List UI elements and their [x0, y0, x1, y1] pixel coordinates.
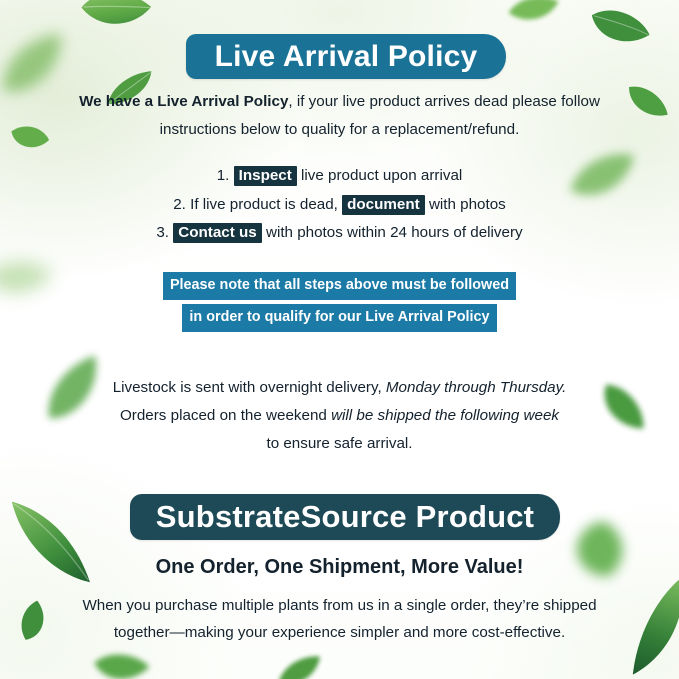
shipping-line-1-emphasis: Monday through Thursday.	[386, 379, 566, 396]
policy-steps-list: 1. Inspect live product upon arrival 2. …	[60, 162, 619, 248]
step-text-pre: If live product is dead,	[190, 196, 338, 213]
product-subheading: One Order, One Shipment, More Value!	[60, 556, 619, 579]
step-keyword: Inspect	[234, 166, 297, 186]
live-arrival-policy-title: Live Arrival Policy	[215, 40, 478, 74]
list-item: 1. Inspect live product upon arrival	[60, 162, 619, 191]
live-arrival-policy-banner: Live Arrival Policy	[186, 34, 506, 79]
step-text: with photos within 24 hours of delivery	[266, 224, 523, 241]
step-keyword: document	[342, 195, 425, 215]
shipping-line-2-emphasis: will be shipped the following week	[331, 407, 559, 424]
poster-canvas: Live Arrival Policy We have a Live Arriv…	[0, 0, 679, 679]
step-number: 3.	[156, 224, 169, 241]
policy-intro-line-1: We have a Live Arrival Policy, if your l…	[60, 88, 619, 116]
shipping-line-1: Livestock is sent with overnight deliver…	[60, 374, 619, 402]
shipping-line-2: Orders placed on the weekend will be shi…	[60, 402, 619, 430]
list-item: 2. If live product is dead, document wit…	[60, 191, 619, 220]
step-number: 1.	[217, 167, 230, 184]
policy-intro-lead: We have a Live Arrival Policy	[79, 93, 288, 110]
policy-note-block: Please note that all steps above must be…	[60, 272, 619, 336]
step-keyword: Contact us	[173, 223, 261, 243]
shipping-line-2-text: Orders placed on the weekend	[120, 407, 331, 424]
policy-note-line-1: Please note that all steps above must be…	[163, 272, 516, 300]
shipping-line-3: to ensure safe arrival.	[60, 430, 619, 458]
policy-note-row-1: Please note that all steps above must be…	[60, 272, 619, 300]
product-body-line-2: together—making your experience simpler …	[60, 619, 619, 646]
step-text: live product upon arrival	[301, 167, 462, 184]
shipping-line-1-text: Livestock is sent with overnight deliver…	[113, 379, 386, 396]
policy-note-row-2: in order to qualify for our Live Arrival…	[60, 304, 619, 332]
product-body-paragraph: When you purchase multiple plants from u…	[60, 592, 619, 647]
shipping-paragraph: Livestock is sent with overnight deliver…	[60, 374, 619, 458]
step-text: with photos	[429, 196, 506, 213]
policy-intro-line-1-rest: , if your live product arrives dead plea…	[288, 93, 600, 110]
step-number: 2.	[173, 196, 186, 213]
policy-intro-paragraph: We have a Live Arrival Policy, if your l…	[60, 88, 619, 144]
product-body-line-1: When you purchase multiple plants from u…	[60, 592, 619, 619]
policy-note-line-2: in order to qualify for our Live Arrival…	[182, 304, 496, 332]
list-item: 3. Contact us with photos within 24 hour…	[60, 219, 619, 248]
substratesource-product-banner: SubstrateSource Product	[130, 494, 560, 540]
substratesource-product-title: SubstrateSource Product	[156, 499, 534, 535]
poster-content: Live Arrival Policy We have a Live Arriv…	[0, 0, 679, 679]
policy-intro-line-2: instructions below to quality for a repl…	[60, 116, 619, 144]
